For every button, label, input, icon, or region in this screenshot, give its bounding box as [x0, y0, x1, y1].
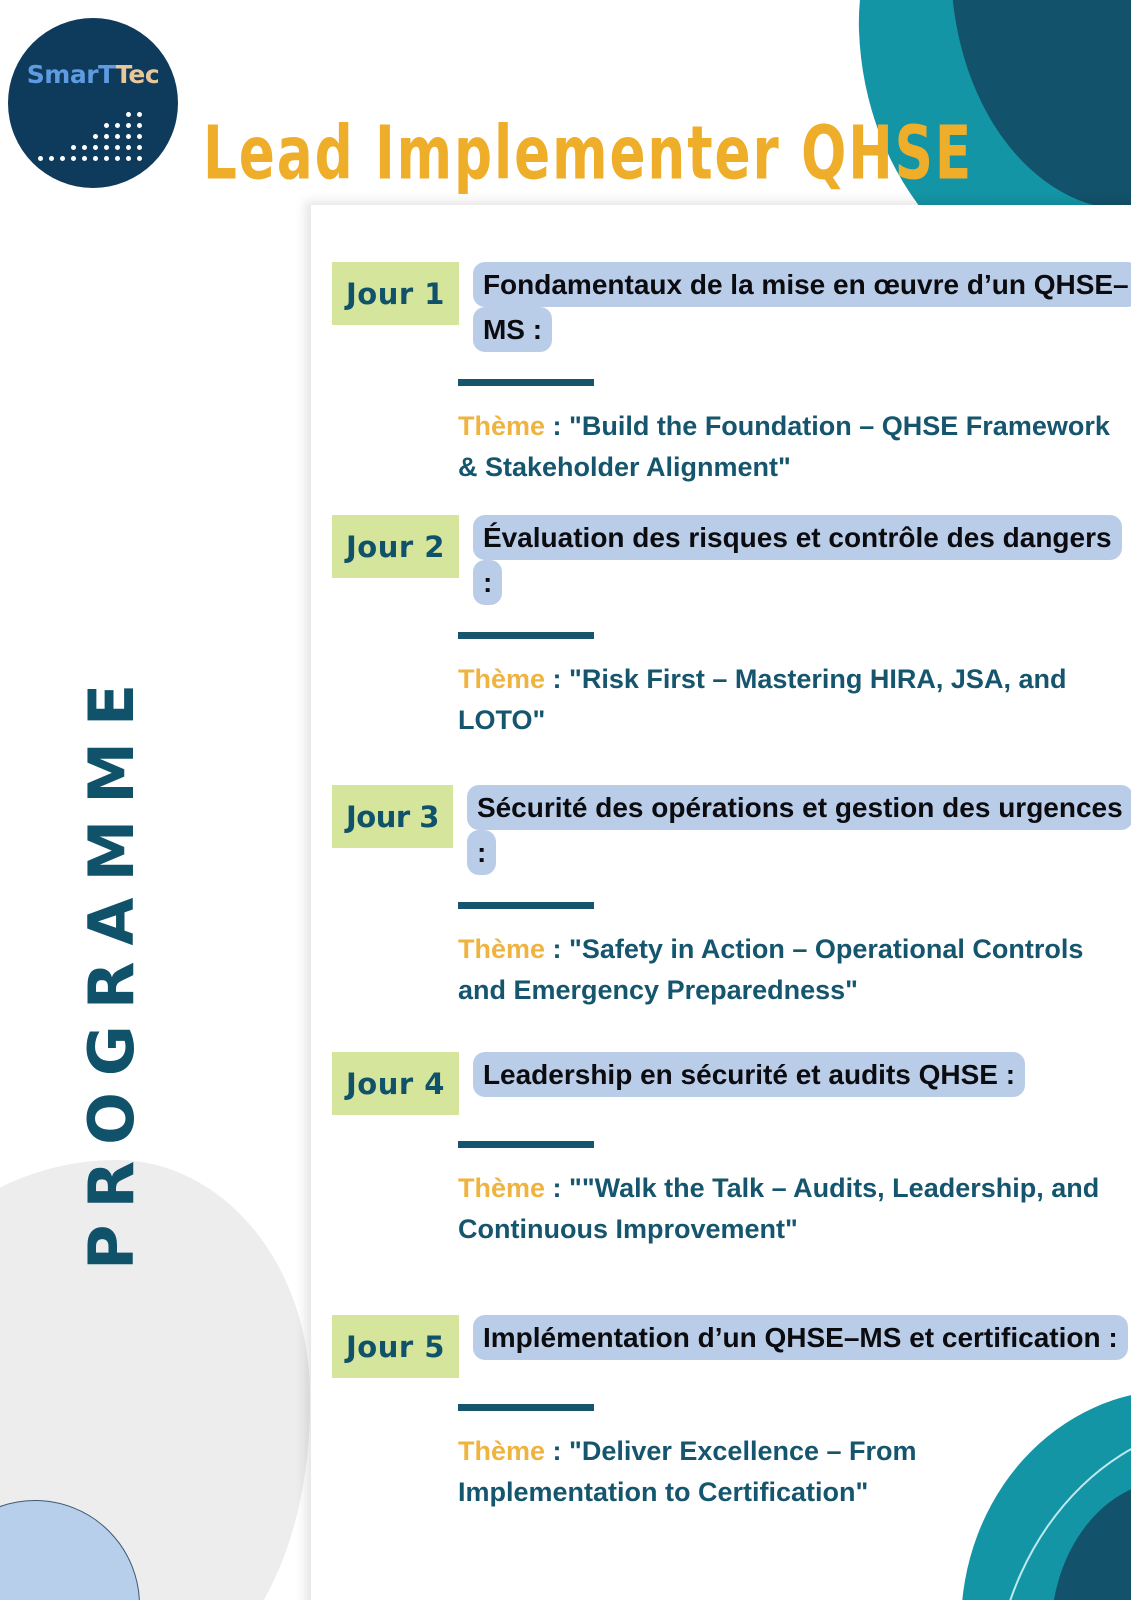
theme-value: : "Risk First – Mastering HIRA, JSA, and… — [458, 664, 1066, 735]
day-tag: Jour 5 — [332, 1315, 459, 1378]
day-divider — [458, 1141, 594, 1148]
day-theme: Thème : "Build the Foundation – QHSE Fra… — [458, 406, 1118, 488]
day-title-wrap: Évaluation des risques et contrôle des d… — [459, 515, 1131, 606]
day-block: Jour 4 Leadership en sécurité et audits … — [332, 1052, 1131, 1250]
day-block: Jour 1 Fondamentaux de la mise en œuvre … — [332, 262, 1131, 488]
day-title: Évaluation des risques et contrôle des d… — [473, 515, 1122, 605]
day-block: Jour 2 Évaluation des risques et contrôl… — [332, 515, 1131, 741]
theme-label: Thème — [458, 411, 545, 441]
day-header: Jour 2 Évaluation des risques et contrôl… — [332, 515, 1131, 606]
programme-poster: SmarTTec Lead Implementer QHSE PROGRAMME… — [0, 0, 1131, 1600]
day-tag: Jour 4 — [332, 1052, 459, 1115]
day-tag: Jour 2 — [332, 515, 459, 578]
day-header: Jour 5 Implémentation d’un QHSE–MS et ce… — [332, 1315, 1131, 1378]
day-title: Fondamentaux de la mise en œuvre d’un QH… — [473, 262, 1131, 352]
day-theme: Thème : ""Walk the Talk – Audits, Leader… — [458, 1168, 1131, 1250]
day-header: Jour 1 Fondamentaux de la mise en œuvre … — [332, 262, 1131, 353]
day-divider — [458, 632, 594, 639]
day-divider — [458, 379, 594, 386]
theme-label: Thème — [458, 934, 545, 964]
day-block: Jour 3 Sécurité des opérations et gestio… — [332, 785, 1131, 1011]
day-divider — [458, 1404, 594, 1411]
day-title-wrap: Implémentation d’un QHSE–MS et certifica… — [459, 1315, 1131, 1360]
theme-label: Thème — [458, 1436, 545, 1466]
day-header: Jour 4 Leadership en sécurité et audits … — [332, 1052, 1131, 1115]
theme-label: Thème — [458, 1173, 545, 1203]
day-title-wrap: Sécurité des opérations et gestion des u… — [453, 785, 1131, 876]
day-theme: Thème : "Safety in Action – Operational … — [458, 929, 1118, 1011]
day-header: Jour 3 Sécurité des opérations et gestio… — [332, 785, 1131, 876]
theme-value: : "Build the Foundation – QHSE Framework… — [458, 411, 1110, 482]
day-title: Implémentation d’un QHSE–MS et certifica… — [473, 1315, 1128, 1360]
theme-label: Thème — [458, 664, 545, 694]
day-divider — [458, 902, 594, 909]
day-list: Jour 1 Fondamentaux de la mise en œuvre … — [0, 0, 1131, 1600]
day-title: Leadership en sécurité et audits QHSE : — [473, 1052, 1025, 1097]
day-block: Jour 5 Implémentation d’un QHSE–MS et ce… — [332, 1315, 1131, 1513]
day-tag: Jour 3 — [332, 785, 453, 848]
day-title-wrap: Fondamentaux de la mise en œuvre d’un QH… — [459, 262, 1131, 353]
day-tag: Jour 1 — [332, 262, 459, 325]
day-theme: Thème : "Risk First – Mastering HIRA, JS… — [458, 659, 1118, 741]
theme-value: : "Safety in Action – Operational Contro… — [458, 934, 1083, 1005]
day-title: Sécurité des opérations et gestion des u… — [467, 785, 1131, 875]
day-theme: Thème : "Deliver Excellence – From Imple… — [458, 1431, 1118, 1513]
theme-value: : ""Walk the Talk – Audits, Leadership, … — [458, 1173, 1099, 1244]
day-title-wrap: Leadership en sécurité et audits QHSE : — [459, 1052, 1131, 1097]
